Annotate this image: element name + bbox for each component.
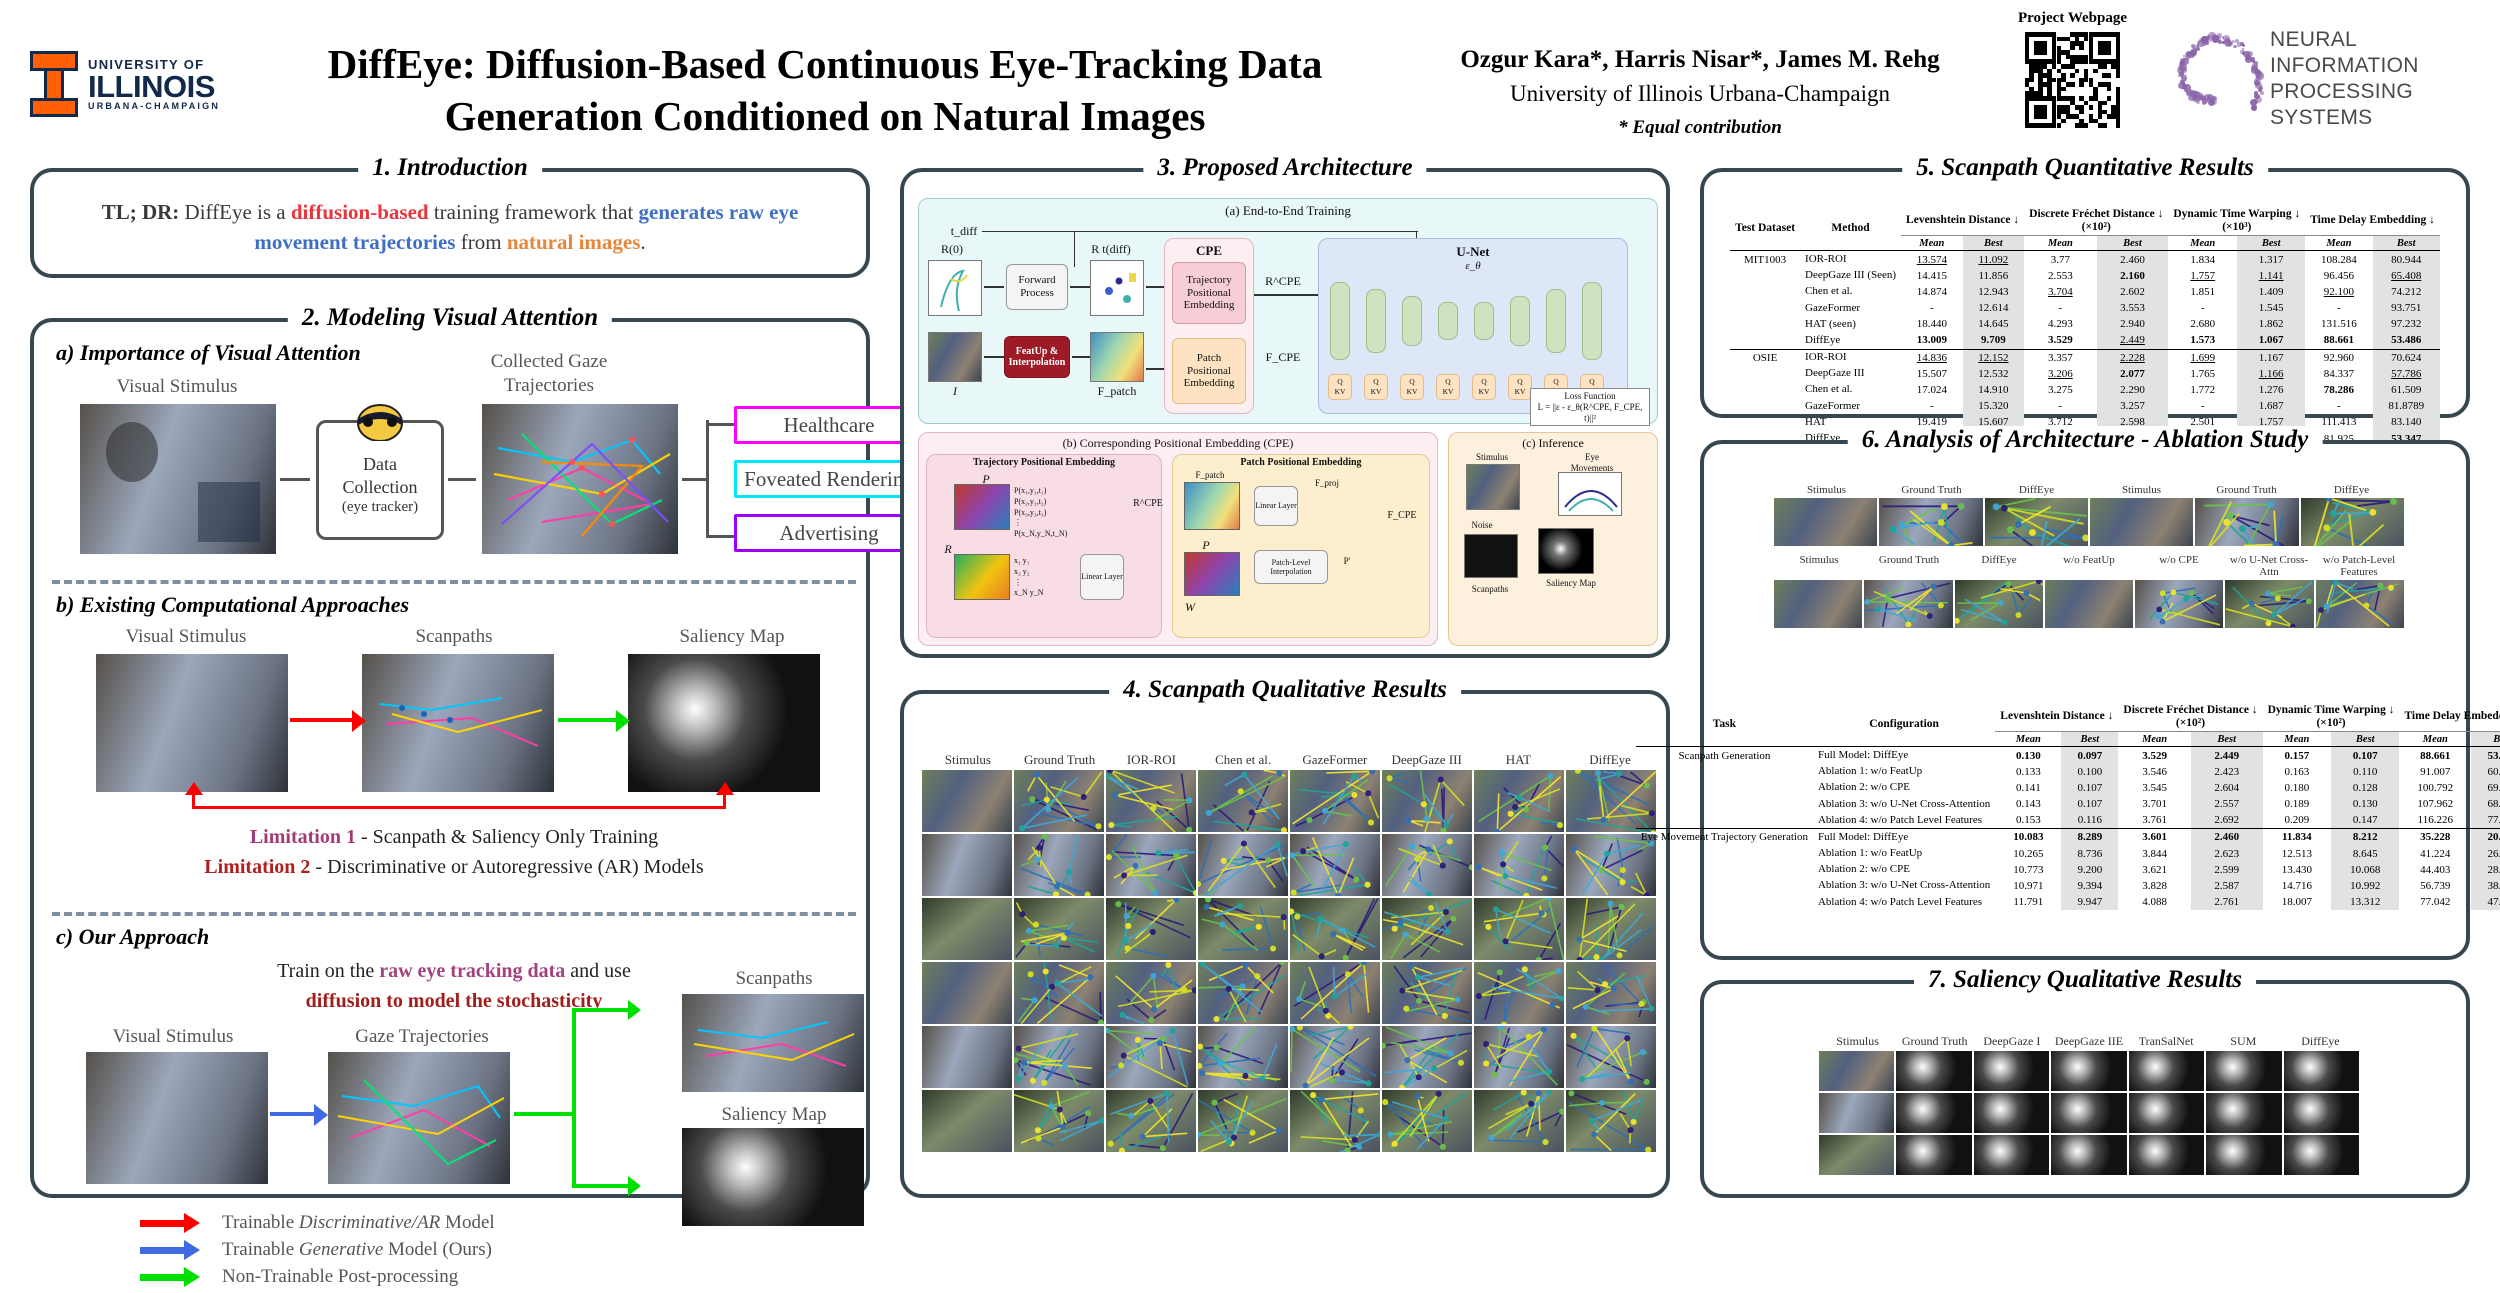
table-cell-value: 0.189: [2263, 796, 2331, 812]
ablation-bottom-col-3: w/o FeatUp: [2044, 554, 2134, 578]
ablation-bottom-row: [1774, 580, 2404, 628]
qualitative-cell: [1382, 962, 1472, 1024]
table-row: HAT (seen)18.44014.6454.2932.9402.6801.8…: [1730, 316, 2440, 332]
table-cell-value: 2.587: [2191, 878, 2263, 894]
table-cell-dataset: [1730, 332, 1800, 349]
saliency-cell: [1974, 1093, 2049, 1133]
table-colgroup-1: Discrete Fréchet Distance ↓ (×10²): [2024, 206, 2168, 236]
saliency-row: [1819, 1093, 2359, 1133]
collector-label-3: (eye tracker): [319, 498, 441, 517]
table-cell-dataset: [1636, 812, 1813, 829]
table-cell-value: 47.354: [2471, 894, 2500, 910]
ablation-top-col-3: Stimulus: [2089, 484, 2194, 496]
ablation-results-table: TaskConfigurationLevenshtein Distance ↓D…: [1636, 702, 2500, 910]
table-cell-dataset: [1730, 284, 1800, 300]
table-cell-value: 12.513: [2263, 846, 2331, 862]
table-cell-value: 2.553: [2024, 268, 2096, 284]
author-affiliation: University of Illinois Urbana-Champaign: [1400, 77, 2000, 112]
arch-subblock-traj-pe: [926, 454, 1162, 638]
table-cell-method: DeepGaze III: [1800, 366, 1901, 382]
qualitative-row: [922, 1090, 1656, 1152]
image-visual-stimulus-a: [80, 404, 276, 554]
table-cell-value: 14.415: [1901, 268, 1963, 284]
limitation-2-bold: Limitation 2: [204, 856, 310, 878]
table-subheader: Best: [2191, 732, 2263, 747]
table-subheader: Best: [2237, 236, 2305, 251]
arch-tensor-r: [954, 554, 1010, 600]
table-cell-value: 26.453: [2471, 846, 2500, 862]
table-cell-method: GazeFormer: [1800, 300, 1901, 316]
arch-node-trajectory-pe: TrajectoryPositionalEmbedding: [1172, 262, 1246, 324]
ablation-top-row: [1774, 498, 2404, 546]
table-cell-value: -: [2024, 398, 2096, 414]
table-cell-value: 2.449: [2097, 332, 2169, 349]
unet-qkv-3: QKV: [1436, 374, 1460, 400]
ablation-rows-bottom: [1774, 580, 2404, 628]
ablation-top-col-1: Ground Truth: [1879, 484, 1984, 496]
qualitative-row: [922, 962, 1656, 1024]
qualitative-cell: [1106, 962, 1196, 1024]
panel-ablation-study: 6. Analysis of Architecture - Ablation S…: [1700, 440, 2470, 960]
neurips-line2: PROCESSING SYSTEMS: [2270, 79, 2480, 132]
arch-label-patch-pe-box: Patch Positional Embedding: [1172, 457, 1430, 469]
table-cell-value: 14.716: [2263, 878, 2331, 894]
table-cell-value: 18.440: [1901, 316, 1963, 332]
table-cell-value: 9.709: [1963, 332, 2025, 349]
qualitative-col-0: Stimulus: [922, 752, 1014, 768]
saliency-cell: [2129, 1051, 2204, 1091]
section-title-modeling: 2. Modeling Visual Attention: [288, 304, 612, 332]
application-label-foveated: Foveated Rendering: [744, 467, 914, 492]
qualitative-cell: [922, 1090, 1012, 1152]
table-cell-value: 96.456: [2305, 268, 2372, 284]
ablation-headers-top: StimulusGround TruthDiffEyeStimulusGroun…: [1774, 484, 2404, 496]
arch-label-a-title: (a) End-to-End Training: [1168, 203, 1408, 219]
table-cell-value: 1.757: [2168, 268, 2237, 284]
table-cell-method: Ablation 4: w/o Patch Level Features: [1813, 894, 1995, 910]
table-header-0: Task: [1636, 702, 1813, 747]
table-cell-value: 3.844: [2118, 846, 2190, 862]
table-cell-value: -: [2024, 300, 2096, 316]
table-cell-value: 3.77: [2024, 251, 2096, 268]
table-cell-method: IOR-ROI: [1800, 349, 1901, 366]
table-header-1: Configuration: [1813, 702, 1995, 747]
label-scanpaths-c: Scanpaths: [674, 968, 874, 990]
table-cell-value: 3.546: [2118, 764, 2190, 780]
table-row: Ablation 2: w/o CPE10.7739.2003.6212.599…: [1636, 862, 2500, 878]
divider-b-c: [52, 912, 856, 916]
panel-qualitative-results: 4. Scanpath Qualitative Results Stimulus…: [900, 690, 1670, 1198]
table-subheader: Best: [2471, 732, 2500, 747]
subsection-c-title: c) Our Approach: [56, 924, 209, 950]
section-title-architecture: 3. Proposed Architecture: [1143, 154, 1426, 182]
table-row: Ablation 1: w/o FeatUp0.1330.1003.5462.4…: [1636, 764, 2500, 780]
saliency-cell: [2284, 1093, 2359, 1133]
qr-code-icon[interactable]: [2025, 32, 2121, 128]
table-cell-dataset: [1730, 382, 1800, 398]
image-collected-gaze: [482, 404, 678, 554]
approach-t1: Train on the: [277, 960, 379, 982]
table-cell-value: 69.827: [2471, 780, 2500, 796]
table-cell-value: -: [2305, 300, 2372, 316]
table-cell-value: 3.257: [2097, 398, 2169, 414]
intro-hl-diffusion: diffusion-based: [291, 200, 429, 224]
table-cell-value: 2.460: [2097, 251, 2169, 268]
ablation-top-col-5: DiffEye: [2299, 484, 2404, 496]
authors-block: Ozgur Kara*, Harris Nisar*, James M. Reh…: [1400, 42, 2000, 139]
table-cell-method: Ablation 3: w/o U-Net Cross-Attention: [1813, 878, 1995, 894]
table-row: Ablation 3: w/o U-Net Cross-Attention10.…: [1636, 878, 2500, 894]
arch-label-inf-saliency: Saliency Map: [1534, 578, 1608, 589]
table-cell-value: 2.604: [2191, 780, 2263, 796]
intro-tldr-text: TL; DR: DiffEye is a diffusion-based tra…: [34, 172, 866, 258]
ablation-bottom-cell: [1774, 580, 1862, 628]
legend-label-discriminative: Trainable Discriminative/AR Model: [222, 1212, 495, 1234]
subsection-a-title: a) Importance of Visual Attention: [56, 340, 361, 366]
neurips-line1: NEURAL INFORMATION: [2270, 27, 2480, 80]
table-cell-value: 97.232: [2373, 316, 2440, 332]
label-collected-gaze-2: Trajectories: [434, 374, 664, 398]
table-cell-value: 70.624: [2373, 349, 2440, 366]
unet-block-0: [1330, 282, 1350, 360]
table-cell-dataset: Scanpath Generation: [1636, 747, 1813, 764]
section-title-saliency: 7. Saliency Qualitative Results: [1914, 966, 2256, 994]
qualitative-cell: [1290, 962, 1380, 1024]
qualitative-cell: [1106, 1090, 1196, 1152]
table-cell-value: 74.212: [2373, 284, 2440, 300]
application-label-healthcare: Healthcare: [784, 413, 875, 438]
arch-label-rcpe-b: R^CPE: [1126, 498, 1170, 510]
author-names: Ozgur Kara*, Harris Nisar*, James M. Reh…: [1400, 42, 2000, 77]
application-box-advertising[interactable]: Advertising: [734, 514, 924, 552]
intro-t4: from: [455, 230, 506, 254]
intro-t1: DiffEye is a: [179, 200, 291, 224]
panel-introduction: 1. Introduction TL; DR: DiffEye is a dif…: [30, 168, 870, 278]
saliency-row: [1819, 1135, 2359, 1175]
arrow-gaze-to-apps: [682, 478, 708, 481]
table-cell-value: 93.751: [2373, 300, 2440, 316]
subsection-existing-approaches: b) Existing Computational Approaches Vis…: [34, 590, 874, 910]
intro-t5: .: [640, 230, 645, 254]
table-cell-value: 3.553: [2097, 300, 2169, 316]
legend-item-postprocessing: Non-Trainable Post-processing: [140, 1266, 495, 1288]
unet-block-3: [1438, 302, 1458, 340]
table-cell-value: 3.828: [2118, 878, 2190, 894]
saliency-cell: [1974, 1135, 2049, 1175]
table-cell-method: Ablation 2: w/o CPE: [1813, 780, 1995, 796]
table-cell-value: 0.209: [2263, 812, 2331, 829]
qualitative-row: [922, 834, 1656, 896]
ablation-top-cell: [2090, 498, 2193, 546]
qualitative-cell: [922, 898, 1012, 960]
table-cell-value: 9.394: [2061, 878, 2118, 894]
qualitative-cell: [1106, 898, 1196, 960]
arch-node-featup: FeatUp &Interpolation: [1004, 336, 1070, 378]
limitation-1-line: Limitation 1 - Scanpath & Saliency Only …: [34, 822, 874, 852]
qualitative-col-6: HAT: [1473, 752, 1565, 768]
saliency-col-2: DeepGaze I: [1973, 1034, 2050, 1049]
table-cell-dataset: [1730, 300, 1800, 316]
ablation-top-cell: [2195, 498, 2298, 546]
table-cell-value: 0.133: [1995, 764, 2061, 780]
table-cell-value: 1.699: [2168, 349, 2237, 366]
table-subheader: Mean: [2168, 236, 2237, 251]
table-cell-value: 3.357: [2024, 349, 2096, 366]
saliency-cell: [2129, 1135, 2204, 1175]
ablation-top-col-2: DiffEye: [1984, 484, 2089, 496]
table-cell-value: 2.599: [2191, 862, 2263, 878]
panel-saliency-results: 7. Saliency Qualitative Results Stimulus…: [1700, 980, 2470, 1198]
table-cell-dataset: [1636, 846, 1813, 862]
label-visual-stimulus-c: Visual Stimulus: [78, 1026, 268, 1048]
table-row: Eye Movement Trajectory GenerationFull M…: [1636, 829, 2500, 846]
table-cell-value: 116.226: [2399, 812, 2471, 829]
section-title-introduction: 1. Introduction: [358, 154, 542, 182]
table-colgroup-3: Time Delay Embedding ↓: [2399, 702, 2500, 732]
unet-block-2: [1402, 296, 1422, 346]
table-cell-value: 1.067: [2237, 332, 2305, 349]
qualitative-cell: [922, 834, 1012, 896]
qualitative-cell: [1014, 1090, 1104, 1152]
table-cell-value: 1.851: [2168, 284, 2237, 300]
table-cell-value: 10.971: [1995, 878, 2061, 894]
application-box-healthcare[interactable]: Healthcare: [734, 406, 924, 444]
qualitative-cell: [922, 962, 1012, 1024]
qualitative-cell: [1198, 770, 1288, 832]
table-cell-value: 0.130: [1995, 747, 2061, 764]
table-cell-value: 68.353: [2471, 796, 2500, 812]
arch-label-fcpe: F_CPE: [1256, 350, 1310, 364]
table-header-1: Method: [1800, 206, 1901, 251]
table-row: Ablation 2: w/o CPE0.1410.1073.5452.6040…: [1636, 780, 2500, 796]
qualitative-col-2: IOR-ROI: [1106, 752, 1198, 768]
qr-label: Project Webpage: [2000, 10, 2145, 27]
table-cell-value: 0.180: [2263, 780, 2331, 796]
feedback-line-horizontal: [192, 806, 726, 809]
table-header-0: Test Dataset: [1730, 206, 1800, 251]
table-cell-value: 1.772: [2168, 382, 2237, 398]
arrow-red-head: [352, 710, 366, 732]
table-cell-value: 3.761: [2118, 812, 2190, 829]
qualitative-cell: [1198, 1090, 1288, 1152]
table-row: Chen et al.14.87412.9433.7042.6021.8511.…: [1730, 284, 2440, 300]
table-cell-value: -: [1901, 300, 1963, 316]
unet-qkv-1: QKV: [1364, 374, 1388, 400]
table-cell-value: 13.312: [2331, 894, 2399, 910]
table-cell-method: HAT (seen): [1800, 316, 1901, 332]
ablation-bottom-col-6: w/o Patch-Level Features: [2314, 554, 2404, 578]
data-collection-box: Data Collection (eye tracker): [316, 420, 444, 540]
arch-label-unet: U-Net: [1318, 244, 1628, 260]
table-cell-method: GazeFormer: [1800, 398, 1901, 414]
table-colgroup-3: Time Delay Embedding ↓: [2305, 206, 2440, 236]
qualitative-cell: [1382, 770, 1472, 832]
qualitative-cell: [922, 770, 1012, 832]
limitation-2-rest: - Discriminative or Autoregressive (AR) …: [310, 856, 703, 878]
table-cell-value: 28.904: [2471, 862, 2500, 878]
qualitative-cell: [1474, 898, 1564, 960]
table-cell-value: 0.163: [2263, 764, 2331, 780]
qualitative-row: [922, 1026, 1656, 1088]
table-cell-value: 2.449: [2191, 747, 2263, 764]
table-cell-method: Ablation 1: w/o FeatUp: [1813, 846, 1995, 862]
saliency-column-headers: StimulusGround TruthDeepGaze IDeepGaze I…: [1819, 1034, 2359, 1049]
table-cell-value: 80.944: [2373, 251, 2440, 268]
illinois-i-mark: [30, 51, 78, 117]
apps-vertical-connector: [706, 420, 709, 538]
saliency-cell: [2284, 1051, 2359, 1091]
table-cell-value: 1.141: [2237, 268, 2305, 284]
arrow-red-shaft: [290, 718, 358, 722]
arch-label-inf-scanpaths: Scanpaths: [1454, 584, 1526, 595]
ablation-top-cell: [1985, 498, 2088, 546]
qualitative-col-5: DeepGaze III: [1381, 752, 1473, 768]
section-title-ablation: 6. Analysis of Architecture - Ablation S…: [1848, 426, 2323, 454]
arch-label-inf-noise: Noise: [1452, 520, 1512, 531]
table-cell-method: Chen et al.: [1800, 284, 1901, 300]
table-cell-value: 0.107: [2331, 747, 2399, 764]
qualitative-cell: [1382, 1090, 1472, 1152]
table-cell-value: 12.152: [1963, 349, 2025, 366]
uiuc-logo-line3: URBANA-CHAMPAIGN: [88, 102, 220, 111]
qualitative-grid: StimulusGround TruthIOR-ROIChen et al.Ga…: [922, 752, 1656, 1152]
table-subheader: Best: [2331, 732, 2399, 747]
table-cell-value: 3.529: [2118, 747, 2190, 764]
subsection-our-approach: c) Our Approach Train on the raw eye tra…: [34, 922, 874, 1197]
approach-hl-raw: raw eye tracking data: [379, 960, 565, 982]
table-row: Scanpath GenerationFull Model: DiffEye0.…: [1636, 747, 2500, 764]
unet-qkv-4: QKV: [1472, 374, 1496, 400]
table-cell-value: 3.545: [2118, 780, 2190, 796]
arch-label-inf-eye: EyeMovements: [1532, 452, 1652, 474]
architecture-diagram: (a) End-to-End Training t_diff R(0) Forw…: [918, 198, 1658, 648]
arch-node-patch-pe: PatchPositionalEmbedding: [1172, 338, 1246, 404]
arrow-green-shaft: [558, 718, 622, 722]
arch-label-fproj: F_proj: [1302, 478, 1352, 489]
arch-formula-r: x₁ y₁x₂ y₂⋮x_N y_N: [1014, 556, 1074, 599]
ablation-bottom-cell: [1864, 580, 1952, 628]
table-cell-dataset: [1730, 366, 1800, 382]
table-row: DeepGaze III (Seen)14.41511.8562.5532.16…: [1730, 268, 2440, 284]
table-cell-value: 2.602: [2097, 284, 2169, 300]
unet-block-1: [1366, 289, 1386, 353]
application-box-foveated-rendering[interactable]: Foveated Rendering: [734, 460, 924, 498]
project-webpage-qr[interactable]: Project Webpage: [2000, 10, 2145, 128]
qualitative-cell: [1474, 834, 1564, 896]
arrow-green-head: [616, 710, 630, 732]
saliency-cell: [2284, 1135, 2359, 1175]
qualitative-cell: [1382, 834, 1472, 896]
legend-label-postprocessing: Non-Trainable Post-processing: [222, 1266, 458, 1288]
arch-node-patch-interp: Patch-LevelInterpolation: [1254, 550, 1328, 584]
table-cell-dataset: [1636, 878, 1813, 894]
table-cell-value: 0.128: [2331, 780, 2399, 796]
limitation-1-bold: Limitation 1: [250, 826, 356, 848]
table-cell-value: 2.423: [2191, 764, 2263, 780]
table-cell-value: 17.024: [1901, 382, 1963, 398]
table-cell-value: 3.206: [2024, 366, 2096, 382]
table-cell-value: 88.661: [2399, 747, 2471, 764]
table-cell-method: Ablation 2: w/o CPE: [1813, 862, 1995, 878]
table-cell-value: 1.573: [2168, 332, 2237, 349]
table-cell-dataset: OSIE: [1730, 349, 1800, 366]
table-cell-value: 84.337: [2305, 366, 2372, 382]
table-cell-dataset: [1636, 796, 1813, 812]
saliency-col-1: Ground Truth: [1896, 1034, 1973, 1049]
ablation-top-col-4: Ground Truth: [2194, 484, 2299, 496]
table-cell-value: 91.007: [2399, 764, 2471, 780]
unet-block-4: [1474, 302, 1494, 340]
table-cell-value: 2.761: [2191, 894, 2263, 910]
saliency-cell: [1819, 1093, 1894, 1133]
uiuc-logo-line2: ILLINOIS: [88, 71, 220, 102]
qualitative-cell: [1474, 1026, 1564, 1088]
ablation-bottom-col-5: w/o U-Net Cross-Attn: [2224, 554, 2314, 578]
panel-quantitative-results: 5. Scanpath Quantitative Results Test Da…: [1700, 168, 2470, 418]
table-cell-value: 56.739: [2399, 878, 2471, 894]
legend-label-generative: Trainable Generative Model (Ours): [222, 1239, 492, 1261]
qualitative-cell: [1014, 1026, 1104, 1088]
table-cell-value: 1.834: [2168, 251, 2237, 268]
table-cell-value: -: [2168, 398, 2237, 414]
arch-label-inf-stimulus: Stimulus: [1454, 452, 1530, 463]
table-cell-value: 4.293: [2024, 316, 2096, 332]
image-stimulus-c: [86, 1052, 268, 1184]
arch-thumb-rt: [1090, 260, 1144, 316]
qualitative-cell: [1290, 1026, 1380, 1088]
intro-hl-generates: generates: [639, 200, 724, 224]
table-cell-value: 12.614: [1963, 300, 2025, 316]
approach-t2: and use: [565, 960, 631, 982]
unet-qkv-2: QKV: [1400, 374, 1424, 400]
saliency-cell: [1819, 1051, 1894, 1091]
table-subheader: Mean: [2024, 236, 2096, 251]
table-cell-value: 2.692: [2191, 812, 2263, 829]
table-cell-value: 12.943: [1963, 284, 2025, 300]
table-cell-value: 0.107: [2061, 796, 2118, 812]
table-cell-value: 2.290: [2097, 382, 2169, 398]
collector-label-2: Collection: [319, 476, 441, 499]
arch-label-r0: R(0): [932, 242, 972, 256]
qualitative-col-1: Ground Truth: [1014, 752, 1106, 768]
qualitative-cell: [1290, 770, 1380, 832]
table-cell-value: 1.409: [2237, 284, 2305, 300]
table-cell-value: 88.661: [2305, 332, 2372, 349]
table-cell-value: 12.532: [1963, 366, 2025, 382]
ablation-top-cell: [2301, 498, 2404, 546]
poster-title: DiffEye: Diffusion-Based Continuous Eye-…: [255, 38, 1395, 143]
saliency-col-0: Stimulus: [1819, 1034, 1896, 1049]
table-cell-value: 60.103: [2471, 764, 2500, 780]
qualitative-cell: [1382, 898, 1472, 960]
ablation-top-cell: [1774, 498, 1877, 546]
qualitative-cell: [1014, 770, 1104, 832]
table-cell-value: 11.856: [1963, 268, 2025, 284]
arch-label-eps: ε_θ: [1318, 260, 1628, 273]
qualitative-cell: [1198, 834, 1288, 896]
table-subheader: Mean: [2118, 732, 2190, 747]
saliency-cell: [2206, 1051, 2281, 1091]
table-cell-value: 1.167: [2237, 349, 2305, 366]
saliency-rows: [1819, 1051, 2359, 1175]
qualitative-cell: [1290, 834, 1380, 896]
qualitative-cell: [1198, 898, 1288, 960]
table-colgroup-1: Discrete Fréchet Distance ↓ (×10²): [2118, 702, 2262, 732]
arch-thumb-input-image: [928, 332, 982, 382]
section-title-quantitative: 5. Scanpath Quantitative Results: [1902, 154, 2268, 182]
ablation-bottom-cell: [2045, 580, 2133, 628]
table-row: Ablation 3: w/o U-Net Cross-Attention0.1…: [1636, 796, 2500, 812]
